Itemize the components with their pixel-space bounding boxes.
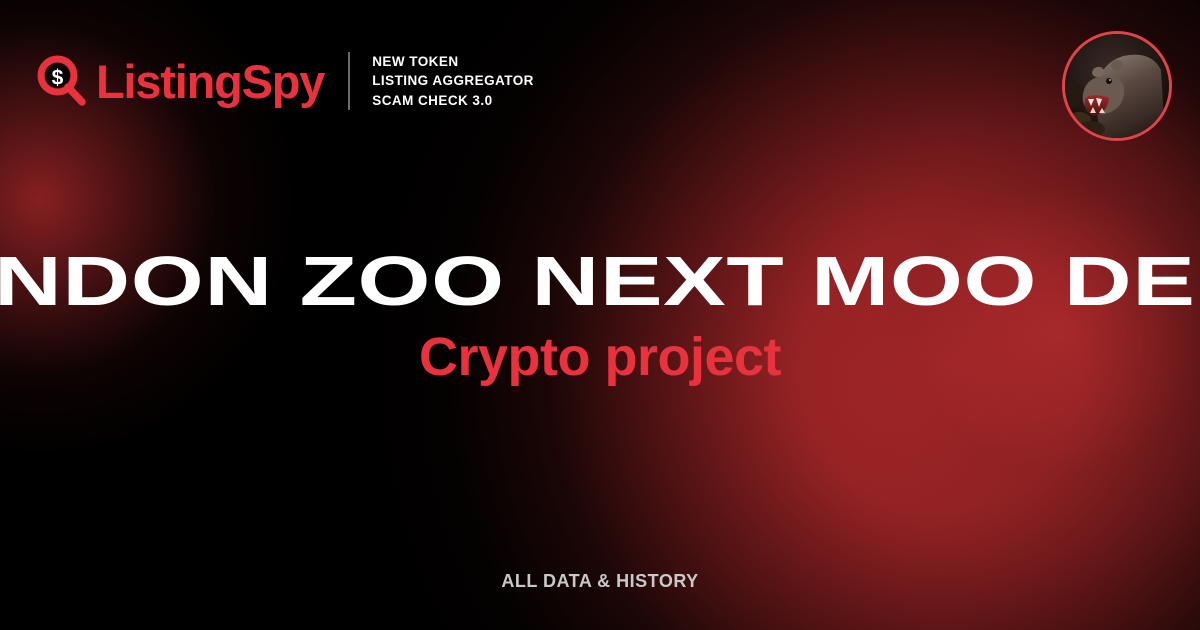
brand-wordmark: ListingSpy: [96, 58, 324, 105]
hippo-avatar[interactable]: [1062, 31, 1172, 141]
brand-tagline: NEW TOKEN LISTING AGGREGATOR SCAM CHECK …: [372, 52, 534, 109]
tagline-line-1: NEW TOKEN: [372, 52, 534, 71]
svg-text:$: $: [52, 67, 64, 90]
footer-tagline: ALL DATA & HISTORY: [0, 571, 1200, 592]
tagline-line-3: SCAM CHECK 3.0: [372, 91, 534, 110]
header-divider: [348, 52, 350, 110]
headline-block: LONDON ZOO NEXT MOO DENG Crypto project: [0, 246, 1200, 386]
hippo-avatar-image: [1065, 34, 1169, 138]
tagline-line-2: LISTING AGGREGATOR: [372, 71, 534, 90]
brand-header[interactable]: $ ListingSpy NEW TOKEN LISTING AGGREGATO…: [36, 52, 534, 110]
listingspy-banner: $ ListingSpy NEW TOKEN LISTING AGGREGATO…: [0, 0, 1200, 630]
page-subtitle: Crypto project: [0, 329, 1200, 386]
page-title: LONDON ZOO NEXT MOO DENG: [0, 246, 1200, 317]
magnifier-dollar-logo-icon: $: [36, 55, 88, 107]
